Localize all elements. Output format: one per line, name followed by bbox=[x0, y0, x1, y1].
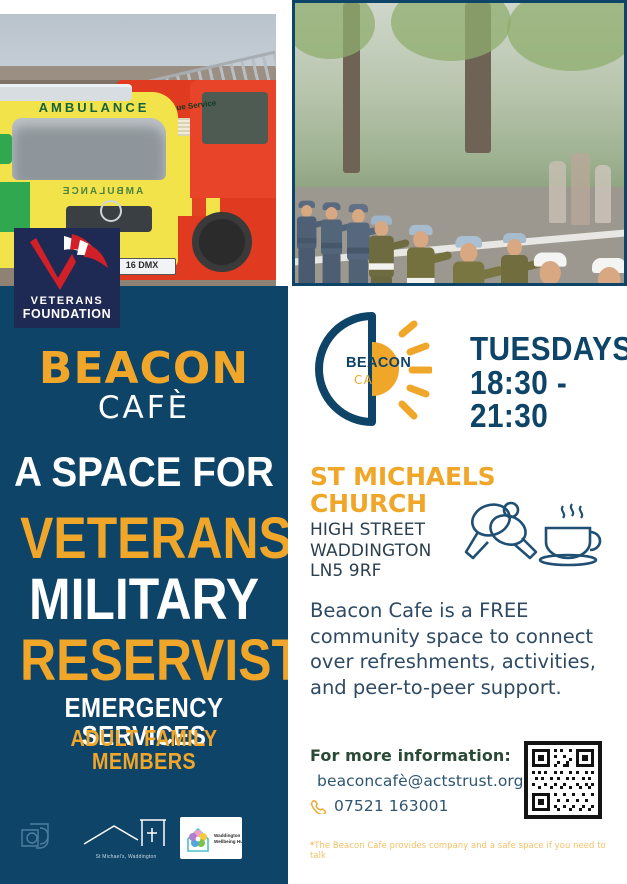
acts-trust-logo bbox=[16, 818, 60, 858]
contact-block: For more information: beaconcafè@actstru… bbox=[310, 746, 530, 815]
footnote: *The Beacon Cafe provides company and a … bbox=[310, 840, 620, 860]
contact-phone-row[interactable]: 07521 163001 bbox=[310, 797, 530, 815]
fire-engine-wheel bbox=[192, 212, 252, 272]
blurb-text: Beacon Cafe is a FREE community space to… bbox=[310, 598, 610, 701]
headline: A SPACE FOR bbox=[12, 448, 277, 496]
audience-item-adult-family-members: ADULT FAMILY MEMBERS bbox=[20, 727, 268, 773]
table-tennis-icon bbox=[466, 500, 536, 558]
schedule-time: 18:30 - 21:30 bbox=[470, 366, 627, 433]
contact-heading: For more information: bbox=[310, 746, 530, 765]
svg-text:CAFÈ: CAFÈ bbox=[354, 372, 390, 387]
brand-title: BEACON CAFÈ bbox=[0, 348, 288, 425]
svg-text:BEACON: BEACON bbox=[346, 355, 411, 371]
ambulance-green-block bbox=[0, 182, 30, 232]
venue-name-line1: ST MICHAELS bbox=[310, 464, 510, 491]
military-parade-photo bbox=[292, 0, 627, 286]
ambulance-windscreen bbox=[12, 118, 166, 180]
logo-and-schedule: BEACON CAFÈ TUESDAYS 18:30 - 21:30 bbox=[310, 304, 610, 434]
qr-code[interactable] bbox=[524, 741, 602, 819]
qr-code-pattern bbox=[528, 745, 598, 815]
spectator bbox=[595, 165, 611, 223]
right-panel: BEACON CAFÈ TUESDAYS 18:30 - 21:30 ST MI… bbox=[288, 286, 627, 884]
ambulance-label-mirrored: AMBULANCE bbox=[32, 186, 172, 197]
coffee-cup-icon bbox=[540, 504, 600, 565]
ambulance-label: AMBULANCE bbox=[24, 100, 164, 115]
audience-item-military: MILITARY bbox=[20, 571, 268, 629]
activity-icons bbox=[464, 494, 604, 576]
veterans-foundation-v-mark bbox=[14, 232, 120, 294]
beacon-cafe-poster: Fire and Rescue Service AMBULANCE AMBULA… bbox=[0, 0, 627, 884]
brand-word: BEACON bbox=[0, 348, 288, 390]
left-panel: BEACON CAFÈ A SPACE FOR VETERANS MILITAR… bbox=[0, 286, 288, 884]
phone-icon bbox=[310, 799, 327, 814]
ambulance-green-block-2 bbox=[0, 134, 12, 164]
audience-item-veterans: VETERANS bbox=[20, 510, 268, 568]
brand-sub: CAFÈ bbox=[0, 392, 288, 425]
spectator bbox=[549, 161, 566, 223]
waddington-wellbeing-hub-logo: Waddington Wellbeing Hub bbox=[180, 817, 242, 859]
schedule: TUESDAYS 18:30 - 21:30 bbox=[470, 332, 627, 433]
veterans-foundation-line2: FOUNDATION bbox=[23, 308, 111, 321]
contact-phone: 07521 163001 bbox=[334, 797, 449, 815]
spectator bbox=[571, 153, 590, 225]
audience-item-reservist: RESERVIST bbox=[20, 632, 268, 690]
svg-text:Wellbeing Hub: Wellbeing Hub bbox=[214, 839, 242, 844]
ambulance-lightbar bbox=[0, 84, 132, 101]
veterans-foundation-logo: VETERANS FOUNDATION bbox=[14, 228, 120, 328]
contact-email-row[interactable]: beaconcafè@actstrust.org.uk bbox=[310, 772, 530, 790]
st-michaels-waddington-logo: St Michael's, Waddington bbox=[80, 816, 172, 860]
partner-logos: St Michael's, Waddington Waddington Well… bbox=[0, 814, 288, 868]
st-michaels-label: St Michael's, Waddington bbox=[80, 854, 172, 860]
footnote-text: The Beacon Cafe provides company and a s… bbox=[310, 840, 606, 860]
mercedes-star-icon bbox=[100, 200, 122, 222]
schedule-day: TUESDAYS bbox=[470, 332, 627, 366]
contact-email: beaconcafè@actstrust.org.uk bbox=[317, 772, 548, 790]
beacon-cafe-logo: BEACON CAFÈ bbox=[310, 308, 432, 430]
svg-text:Waddington: Waddington bbox=[214, 833, 241, 838]
